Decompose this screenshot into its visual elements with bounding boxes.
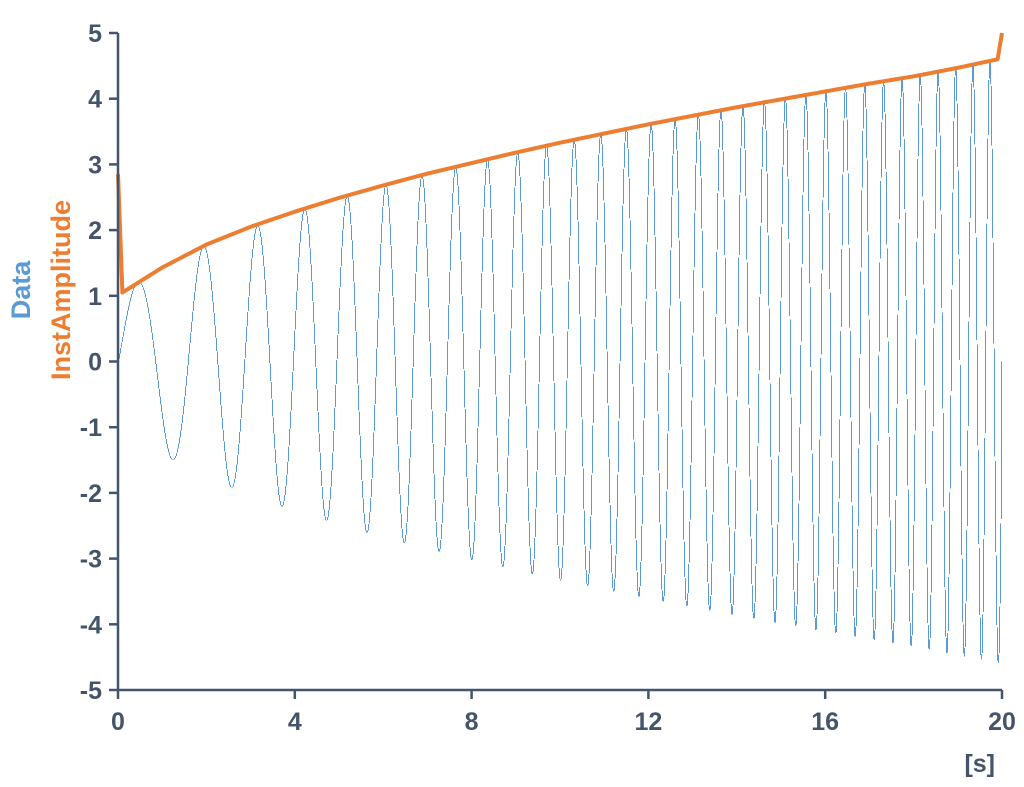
x-tick-label: 16 <box>811 708 839 736</box>
y-tick-label: 2 <box>88 217 102 245</box>
y-tick-label: 1 <box>88 283 102 311</box>
axis-title-inst-amplitude: InstAmplitude <box>46 200 76 380</box>
y-tick-label: -5 <box>80 677 102 705</box>
y-tick-label: 4 <box>88 86 102 114</box>
y-tick-label: -3 <box>80 546 102 574</box>
x-tick-label: 8 <box>465 708 479 736</box>
y-tick-label: -1 <box>80 414 102 442</box>
x-tick-label: 12 <box>634 708 662 736</box>
y-tick-label: 3 <box>88 151 102 179</box>
x-tick-label: 4 <box>288 708 302 736</box>
amplitude-chirp-chart: 543210-1-2-3-4-5 048121620 [s] Data Inst… <box>0 0 1024 787</box>
x-axis-unit-label: [s] <box>964 750 995 778</box>
y-tick-label: 0 <box>88 349 102 377</box>
x-tick-label: 20 <box>988 708 1016 736</box>
y-tick-label: -4 <box>80 611 102 639</box>
y-tick-label: -2 <box>80 480 102 508</box>
chart-page: 543210-1-2-3-4-5 048121620 [s] Data Inst… <box>0 0 1024 787</box>
y-tick-label: 5 <box>88 20 102 48</box>
x-tick-label: 0 <box>111 708 125 736</box>
axis-title-data: Data <box>6 260 36 320</box>
